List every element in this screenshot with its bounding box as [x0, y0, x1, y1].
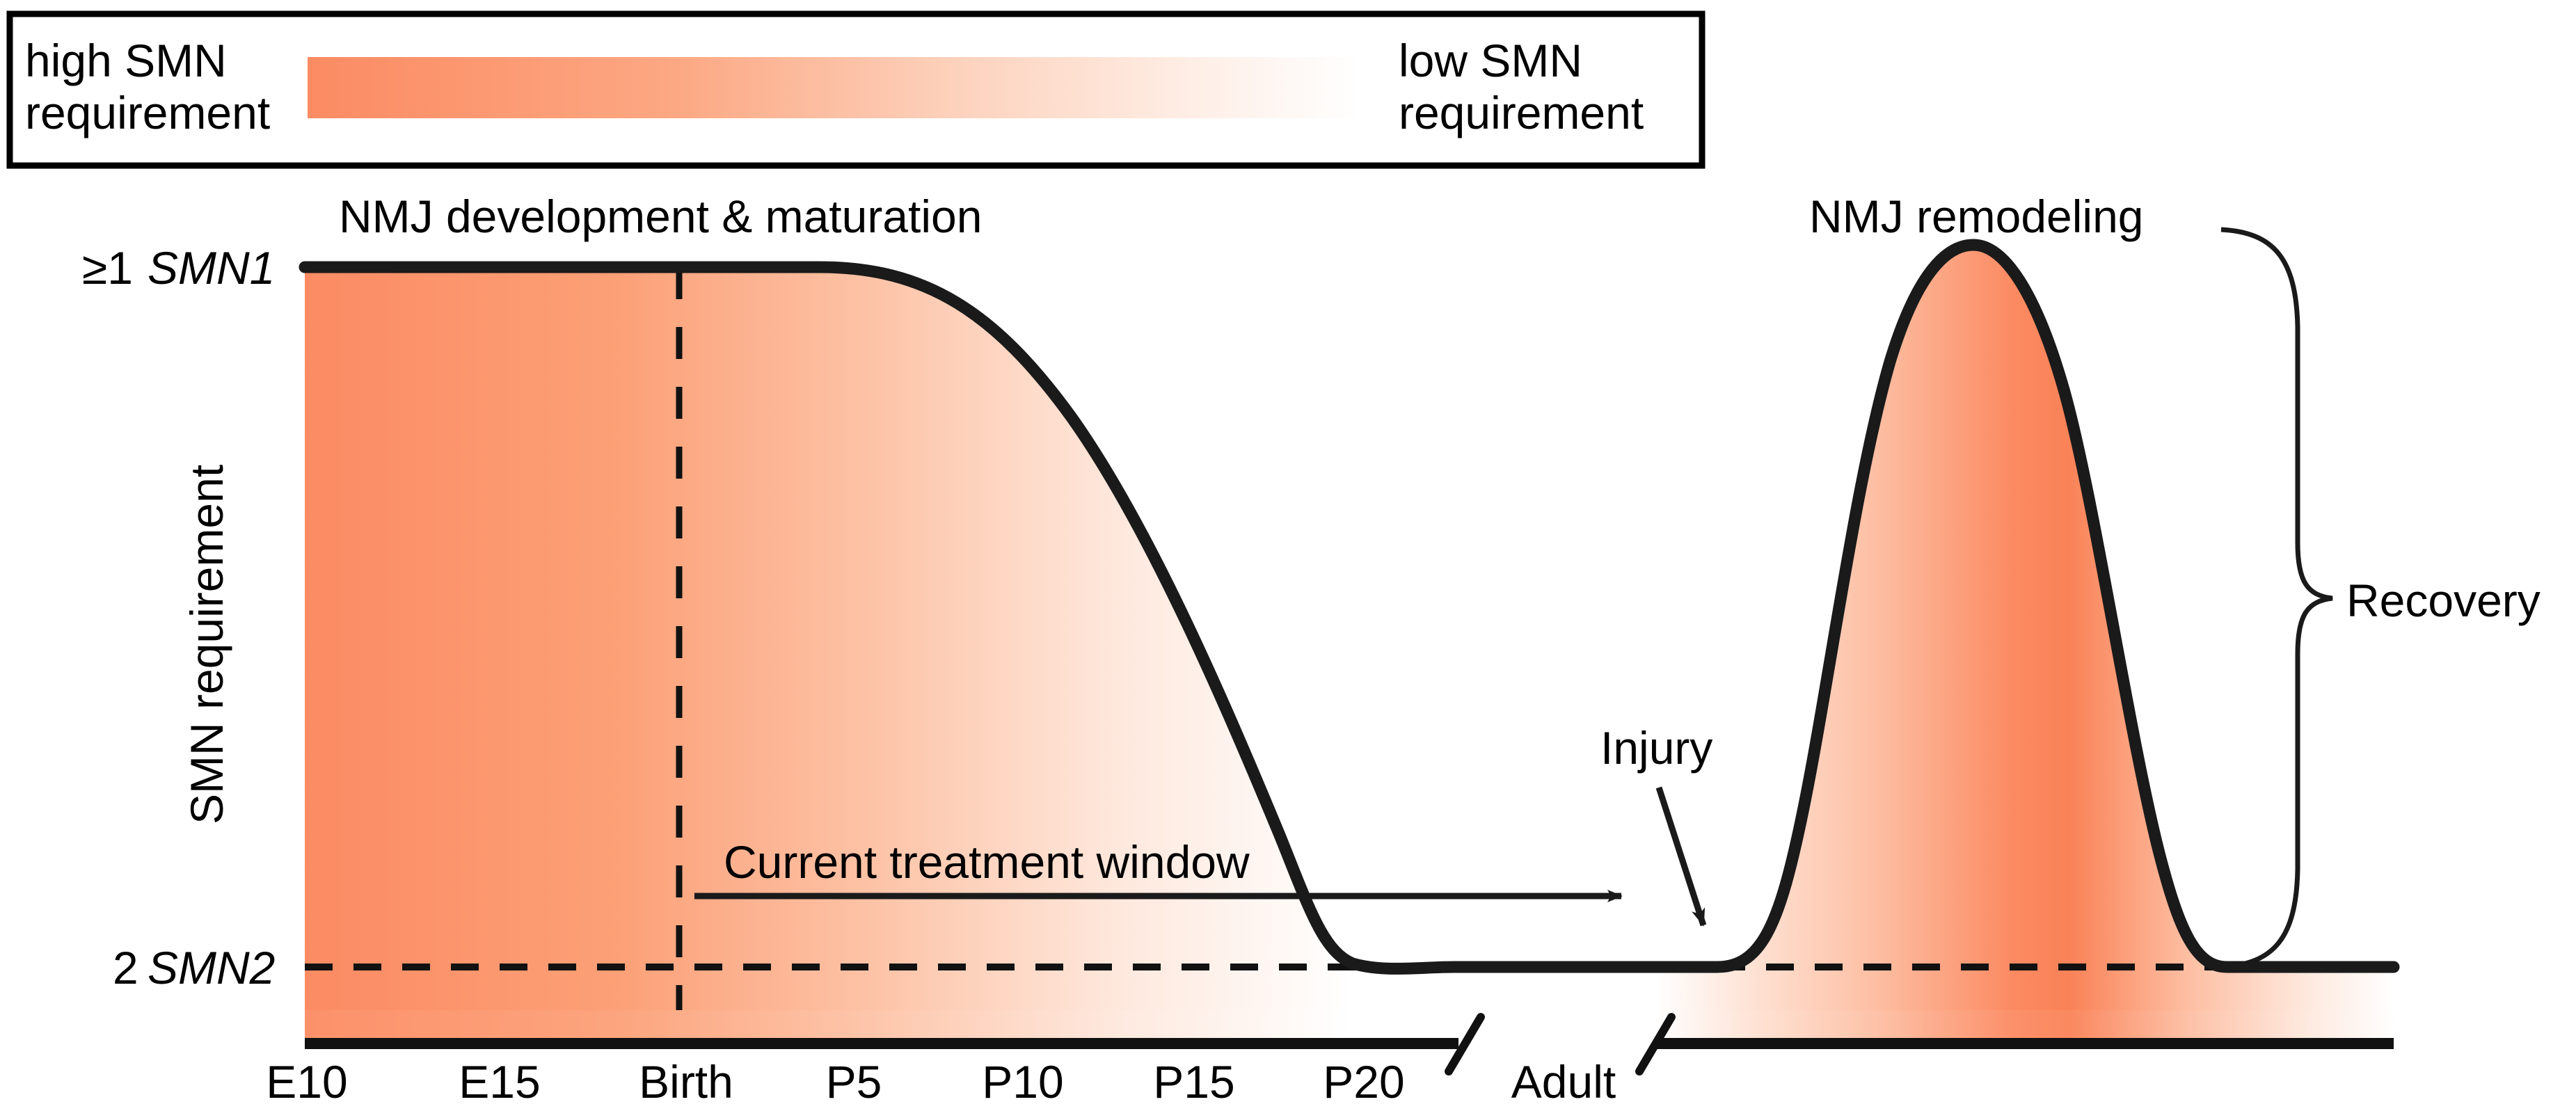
recovery-label: Recovery: [2346, 575, 2541, 626]
recovery-annotation: Recovery: [2221, 230, 2541, 967]
figure-root: high SMN requirement low SMN requirement…: [0, 0, 2576, 1111]
legend-box: high SMN requirement low SMN requirement: [10, 14, 1702, 166]
treatment-window-label: Current treatment window: [724, 836, 1250, 888]
recovery-brace: [2221, 230, 2332, 967]
legend-left-label-line1: high SMN: [25, 35, 227, 86]
y-tick-smn2: 2 SMN2: [113, 942, 275, 993]
legend-gradient-bar: [308, 57, 1360, 118]
phase1-title: NMJ development & maturation: [339, 191, 982, 242]
y-tick-smn2-gene: SMN2: [148, 942, 275, 993]
y-tick-smn1: ≥1 SMN1: [82, 242, 275, 294]
x-tick-adult: Adult: [1511, 1056, 1616, 1108]
injury-arrow: [1659, 788, 1703, 925]
smn-requirement-figure: high SMN requirement low SMN requirement…: [0, 0, 2576, 1111]
x-tick-birth: Birth: [639, 1056, 733, 1108]
legend-left-label-line2: requirement: [25, 87, 270, 138]
x-tick-p20: P20: [1323, 1056, 1404, 1108]
x-tick-p15: P15: [1153, 1056, 1234, 1108]
y-tick-smn1-gene: SMN1: [148, 242, 275, 294]
x-tick-p5: P5: [826, 1056, 882, 1108]
phase2-title: NMJ remodeling: [1809, 191, 2144, 242]
legend-right-label-line2: requirement: [1399, 87, 1644, 138]
y-tick-smn1-prefix: ≥1: [82, 242, 133, 294]
legend-right-label-line1: low SMN: [1399, 35, 1582, 86]
treatment-window-annotation: Current treatment window: [694, 836, 1621, 896]
x-tick-p10: P10: [982, 1056, 1063, 1108]
y-axis-title: SMN requirement: [181, 465, 232, 824]
x-tick-e10: E10: [266, 1056, 347, 1108]
y-tick-smn2-prefix: 2: [113, 942, 138, 993]
remodeling-area-fill: [1656, 245, 2394, 1010]
injury-label: Injury: [1600, 722, 1712, 774]
x-tick-e15: E15: [459, 1056, 540, 1108]
